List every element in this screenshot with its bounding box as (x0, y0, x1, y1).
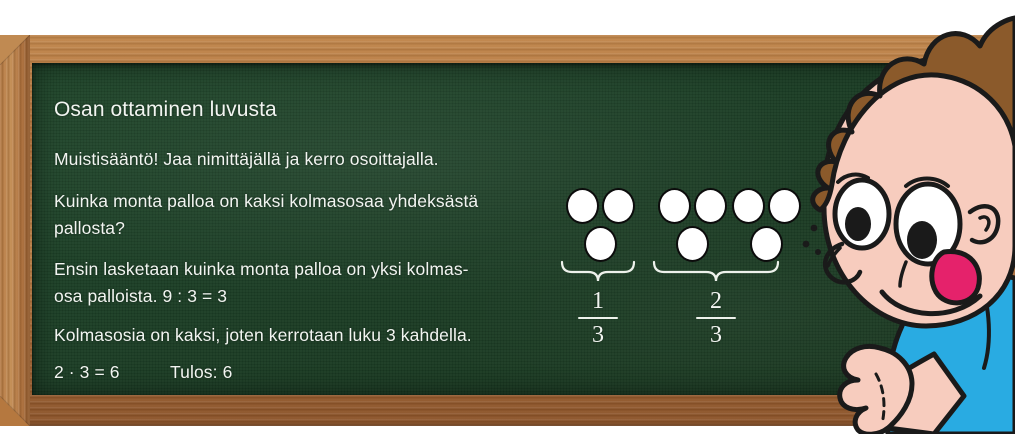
slide-canvas: Osan ottaminen luvusta Muistisääntö! Jaa… (0, 0, 1015, 434)
frame-miter-top-left (0, 35, 30, 65)
fraction-denominator: 3 (694, 322, 738, 348)
ball-diagram: 1 3 2 3 (548, 180, 818, 370)
tongue (932, 251, 980, 302)
question-line-2: pallosta? (54, 218, 125, 239)
fraction-numerator: 2 (694, 288, 738, 314)
step-one-line-1: Ensin lasketaan kuinka monta palloa on y… (54, 259, 469, 280)
fraction-two-thirds: 2 3 (694, 288, 738, 348)
frame-miter-bottom-left (0, 396, 30, 426)
fraction-bar (696, 317, 736, 319)
cartoon-boy-illustration (784, 0, 1015, 434)
result-expression: 2 · 3 = 6 (54, 362, 120, 383)
step-two-line: Kolmasosia on kaksi, joten kerrotaan luk… (54, 325, 472, 346)
frame-rail-left (0, 35, 30, 426)
question-line-1: Kuinka monta palloa on kaksi kolmasosaa … (54, 191, 478, 212)
page-title: Osan ottaminen luvusta (54, 98, 277, 122)
pupil-left (845, 207, 871, 241)
result-label: Tulos: 6 (170, 362, 232, 383)
brace-group-two (548, 180, 818, 370)
rule-text: Muistisääntö! Jaa nimittäjällä ja kerro … (54, 149, 439, 170)
pupil-right (907, 221, 937, 259)
ear (970, 206, 998, 242)
step-one-line-2: osa palloista. 9 : 3 = 3 (54, 286, 227, 307)
